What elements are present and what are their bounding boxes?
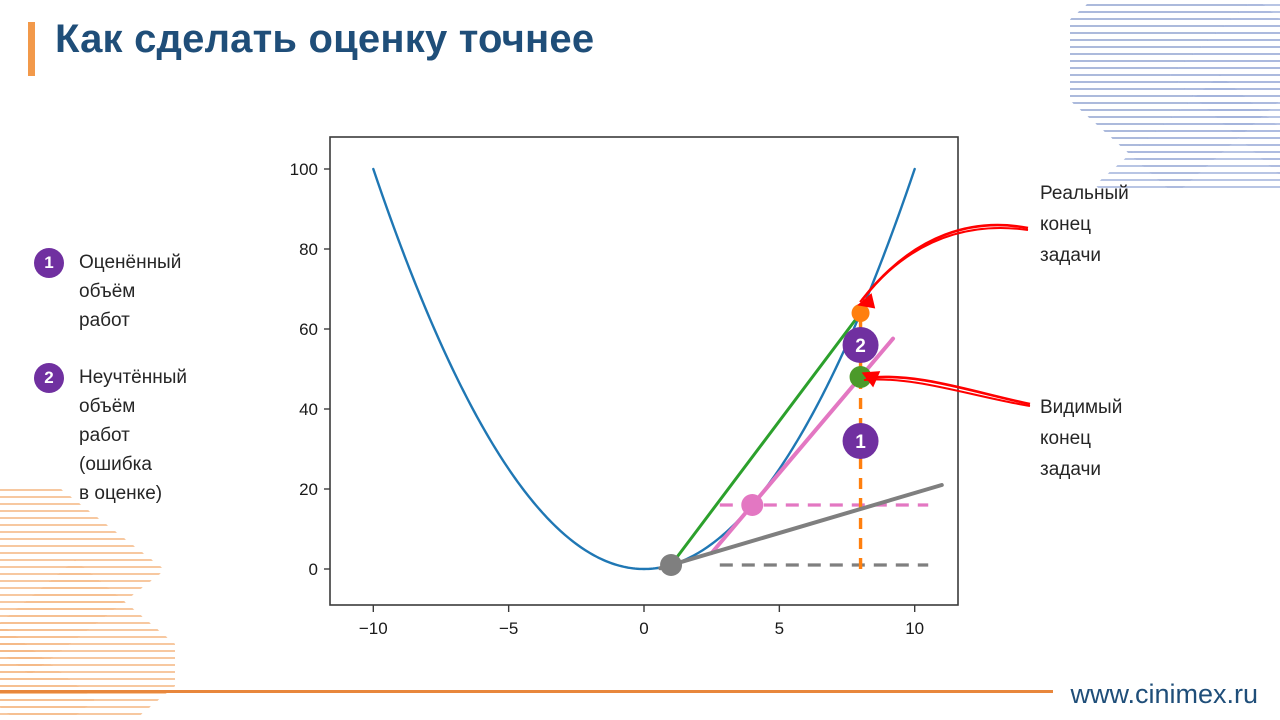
y-tick-label: 100 (290, 160, 318, 179)
x-tick-label: −5 (499, 619, 518, 638)
footer-rule (0, 690, 1053, 693)
chart-dashed-lines (720, 313, 928, 569)
series-tangent-at-1 (660, 485, 942, 568)
series-parabola (373, 169, 914, 569)
x-tick-label: 0 (639, 619, 648, 638)
x-axis-ticks: −10−50510 (359, 605, 924, 638)
arrow-visible-end (866, 377, 1030, 404)
x-tick-label: −10 (359, 619, 388, 638)
y-tick-label: 0 (309, 560, 318, 579)
annotation-real-end: Реальный конец задачи (1040, 178, 1129, 271)
arrow-real-end-secondary (860, 228, 1028, 302)
series-secant (671, 313, 860, 565)
y-tick-label: 80 (299, 240, 318, 259)
chart-badge-label-2: 2 (855, 336, 866, 357)
x-tick-label: 10 (905, 619, 924, 638)
y-tick-label: 20 (299, 480, 318, 499)
point-start-point (660, 554, 682, 576)
x-tick-label: 5 (775, 619, 784, 638)
footer-url: www.cinimex.ru (1070, 679, 1258, 710)
annotation-visible-end: Видимый конец задачи (1040, 392, 1122, 485)
y-axis-ticks: 020406080100 (290, 160, 330, 579)
point-midpoint-estimate (741, 494, 763, 516)
y-tick-label: 60 (299, 320, 318, 339)
slide-root: Как сделать оценку точнее 1 Оценённый об… (0, 0, 1280, 720)
chart-badge-label-1: 1 (855, 432, 866, 453)
chart-figure: 020406080100 −10−50510 12 (0, 0, 1280, 720)
y-tick-label: 40 (299, 400, 318, 419)
